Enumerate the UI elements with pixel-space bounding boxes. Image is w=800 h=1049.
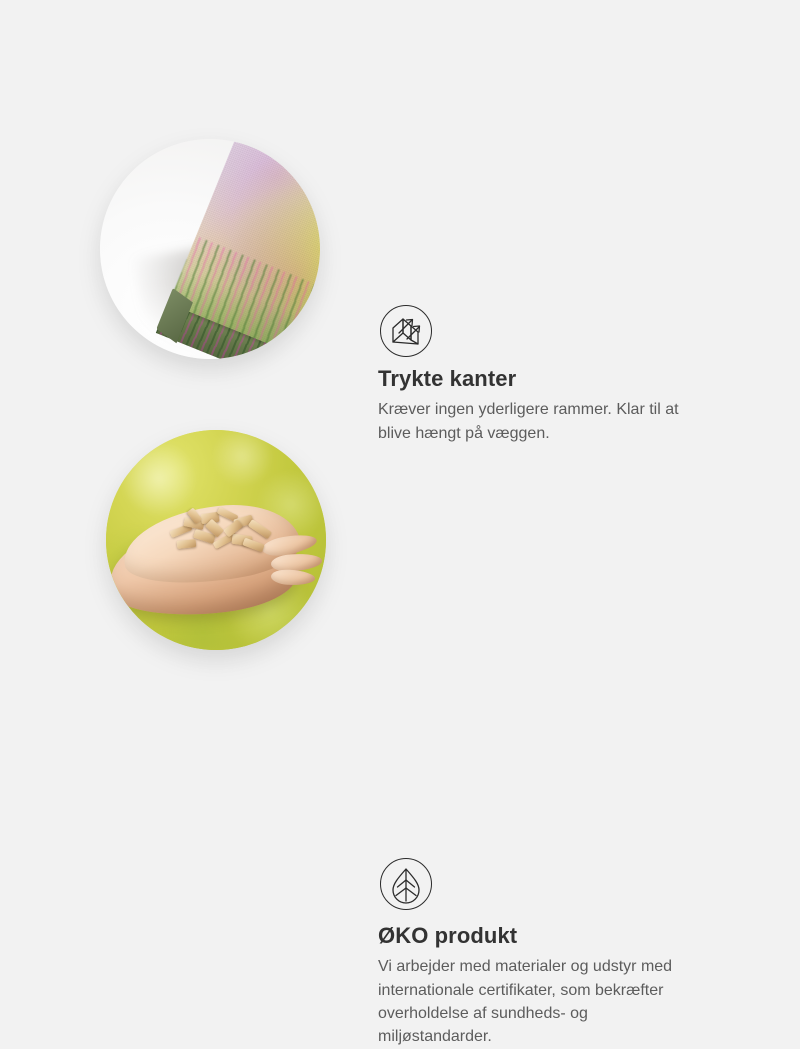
feature-image-wrap — [106, 430, 326, 650]
canvas-object — [154, 139, 320, 359]
hands-group — [110, 505, 321, 624]
feature-block-eco-product: ØKO produkt Vi arbejder med materialer o… — [0, 420, 800, 660]
feature-list-page: Trykte kanter Kræver ingen yderligere ra… — [0, 0, 800, 800]
feature-title: ØKO produkt — [378, 923, 750, 948]
feature-title: Trykte kanter — [378, 366, 758, 391]
feature-description: Vi arbejder med materialer og udstyr med… — [378, 955, 750, 1048]
wood-chip — [243, 538, 266, 553]
feature-block-printed-edges: Trykte kanter Kræver ingen yderligere ra… — [0, 130, 800, 370]
leaf-icon — [380, 858, 432, 910]
hands-with-wood-chips-photo — [106, 430, 326, 650]
feature-image-wrap — [100, 139, 320, 359]
wood-chips-pile — [165, 507, 283, 564]
wood-chip — [177, 539, 197, 549]
canvas-photo-background — [100, 139, 320, 359]
meadow-background — [106, 430, 326, 650]
feature-text-eco-product: ØKO produkt Vi arbejder med materialer o… — [378, 923, 750, 1049]
wrapped-canvas-edges-icon — [380, 305, 432, 357]
canvas-corner-photo — [100, 139, 320, 359]
